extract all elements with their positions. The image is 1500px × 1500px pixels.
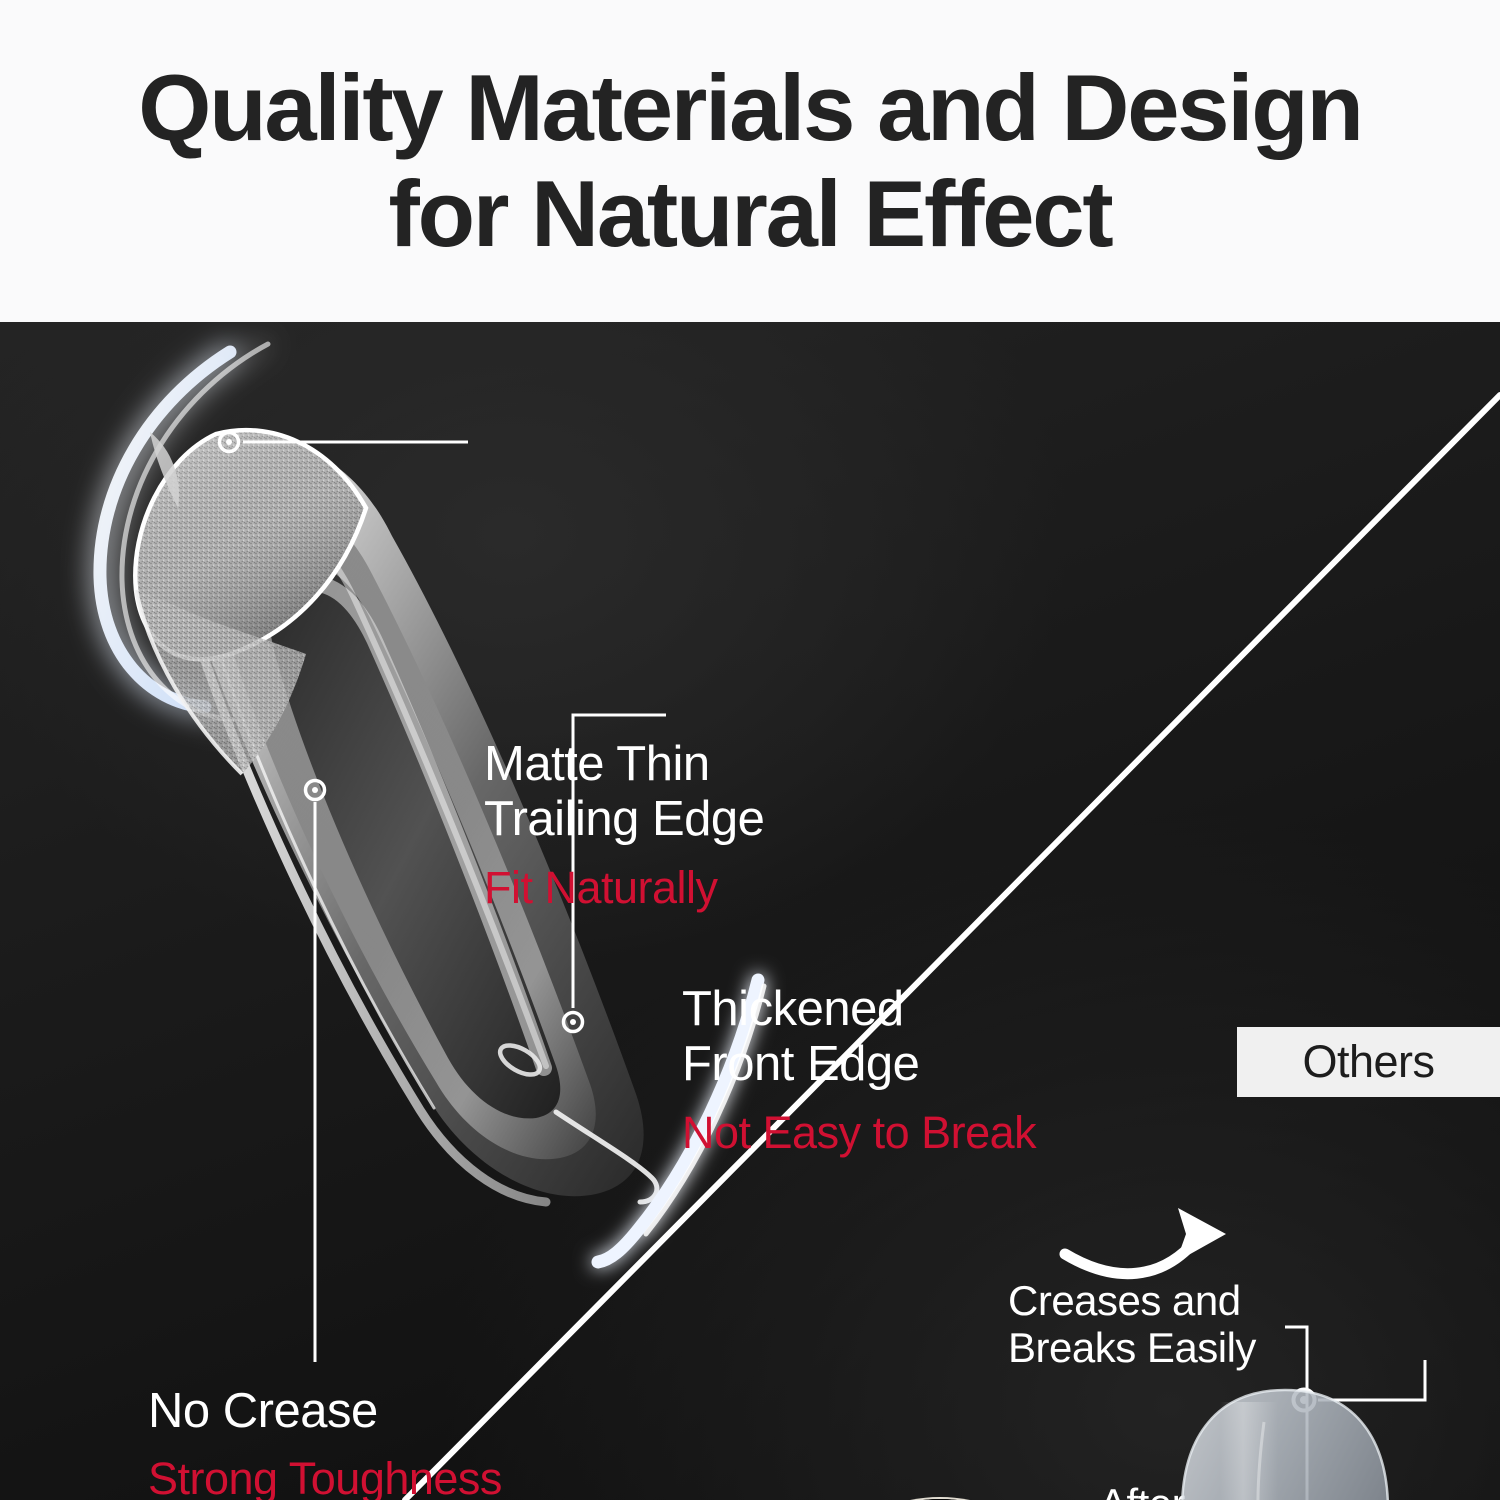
callout-no-crease: No Crease Strong Toughness xyxy=(148,1384,502,1500)
bend-arrow xyxy=(1065,1208,1226,1274)
callout-thickened-front-edge: Thickened Front Edge Not Easy to Break xyxy=(682,982,1036,1159)
header-banner: Quality Materials and Design for Natural… xyxy=(0,0,1500,322)
callout-matte-sub: Fit Naturally xyxy=(484,863,764,914)
callout-front-line-1: Thickened xyxy=(682,982,1036,1037)
abs-nail-tip-illustration xyxy=(1160,1382,1410,1500)
callout-front-sub: Not Easy to Break xyxy=(682,1108,1036,1159)
competitor-badge-others: Others xyxy=(1237,1027,1500,1097)
callout-breaks-line-1: Creases and xyxy=(1008,1277,1256,1324)
callout-crease-line-1: No Crease xyxy=(148,1384,502,1439)
callout-front-line-2: Front Edge xyxy=(682,1037,1036,1092)
callout-creases-breaks-easily: Creases and Breaks Easily xyxy=(1008,1277,1256,1371)
page-title-line-2: for Natural Effect xyxy=(389,163,1112,265)
callout-matte-thin-trailing-edge: Matte Thin Trailing Edge Fit Naturally xyxy=(484,737,764,914)
callout-matte-line-1: Matte Thin xyxy=(484,737,764,792)
callout-matte-line-2: Trailing Edge xyxy=(484,792,764,847)
competitor-badge-label: Others xyxy=(1302,1036,1434,1088)
page-title-line-1: Quality Materials and Design xyxy=(138,57,1361,159)
callout-crease-sub: Strong Toughness xyxy=(148,1454,502,1500)
comparison-stage: Matte Thin Trailing Edge Fit Naturally T… xyxy=(0,322,1500,1500)
callout-breaks-line-2: Breaks Easily xyxy=(1008,1324,1256,1371)
